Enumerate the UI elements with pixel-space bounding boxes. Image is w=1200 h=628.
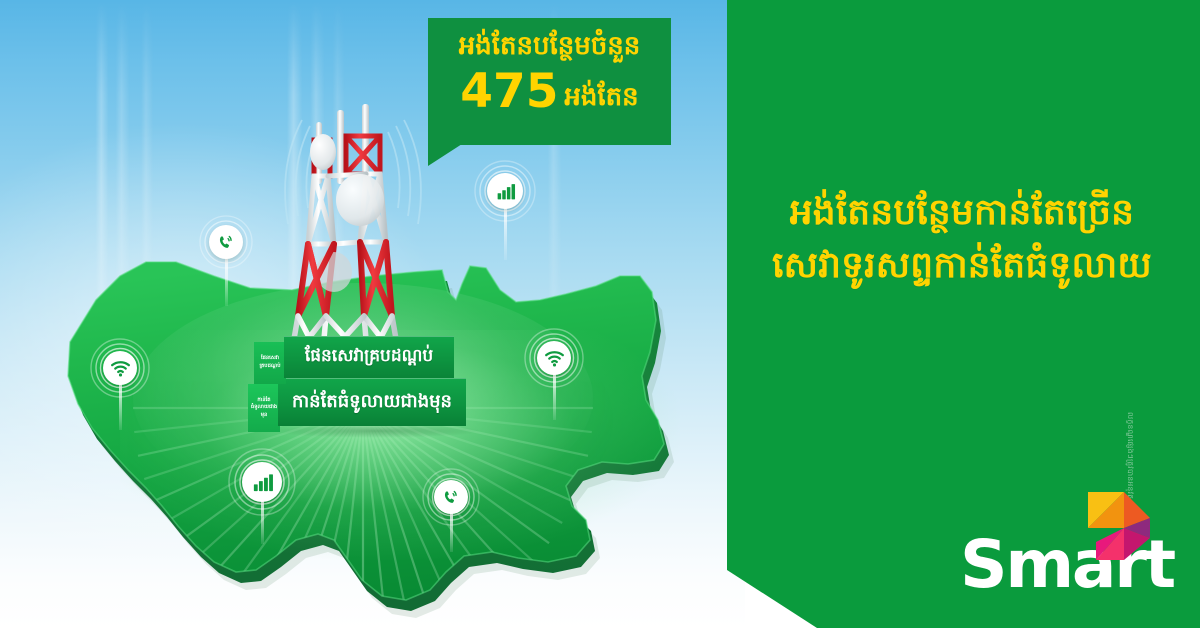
bubble-line-1: អង់តែនបន្ថែមចំនួន [428,32,671,61]
panel-headline-line-2: សេវាទូរសព្ទកាន់តែធំទូលាយ [742,239,1182,292]
dish-antenna-small [310,134,336,170]
smart-telecom-banner: កាន់តែ ធំទូលាយជាងមុន កាន់តែធំទូលាយជាងមុន… [0,0,1200,628]
wifi-coverage-pin-east[interactable] [524,328,584,420]
box-2-side-label: កាន់តែ ធំទូលាយជាងមុន [249,384,279,432]
pin-disc [242,462,282,502]
wifi-icon [110,358,131,379]
signal-icon [251,471,274,494]
cell-tower [268,104,438,369]
box-2-front-face: កាន់តែធំទូលាយជាងមុន [278,378,466,426]
wifi-coverage-pin-west[interactable] [90,338,150,430]
smart-logo-mark [1084,490,1152,562]
dish-antenna-large [336,174,384,226]
box-1-side-line1: ផែនសេវា [261,355,279,363]
panel-headline: អង់តែនបន្ថែមកាន់តែច្រើន សេវាទូរសព្ទកាន់ត… [742,186,1182,293]
antenna-count-number: 475 [460,64,558,119]
box-2-side-face: កាន់តែ ធំទូលាយជាងមុន [248,384,280,432]
box-1-side-label: ផែនសេវា គ្របដណ្តប់ [255,342,285,384]
bubble-line-2: 475អង់តែន [428,68,671,115]
pin-disc [487,173,523,209]
smart-logo[interactable]: Smart [960,490,1160,600]
box-1-front-label: ផែនសេវាគ្របដណ្តប់ [284,336,454,378]
box-2-side-line2: ធំទូលាយជាងមុន [249,404,279,419]
pin-stem [450,508,453,552]
pin-stem [504,200,507,260]
pin-stem [119,378,122,430]
phone-icon [216,232,237,253]
smart-logo-mark-svg [1084,490,1152,562]
pin-disc [434,480,468,514]
pin-disc [537,341,571,375]
pin-stem [553,368,556,420]
antenna-count-unit: អង់តែន [564,82,638,112]
pin-disc [103,351,137,385]
call-coverage-pin[interactable] [198,214,254,306]
call-coverage-pin-southeast[interactable] [422,468,480,552]
box-2-front-label: កាន់តែធំទូលាយជាងមុន [278,378,466,426]
phone-icon [441,487,462,508]
terms-and-conditions-note: លក្ខខណ្ឌផ្សេងៗត្រូវបានអនុវត្ត [1124,412,1135,502]
box-1-front-face: ផែនសេវាគ្របដណ្តប់ [284,336,454,378]
bubble-tail [428,144,462,166]
cell-tower-svg [268,104,438,369]
feature-boxes: កាន់តែ ធំទូលាយជាងមុន កាន់តែធំទូលាយជាងមុន… [248,336,478,428]
signal-icon [495,181,516,202]
box-1-side-line2: គ្របដណ្តប់ [259,363,280,371]
box-1-side-face: ផែនសេវា គ្របដណ្តប់ [254,342,286,384]
wifi-icon [544,348,565,369]
box-shadow [272,424,482,438]
panel-headline-line-1: អង់តែនបន្ថែមកាន់តែច្រើន [742,186,1182,239]
pin-disc [209,225,243,259]
signal-coverage-pin-south[interactable] [228,448,296,544]
signal-coverage-pin[interactable] [474,160,536,260]
